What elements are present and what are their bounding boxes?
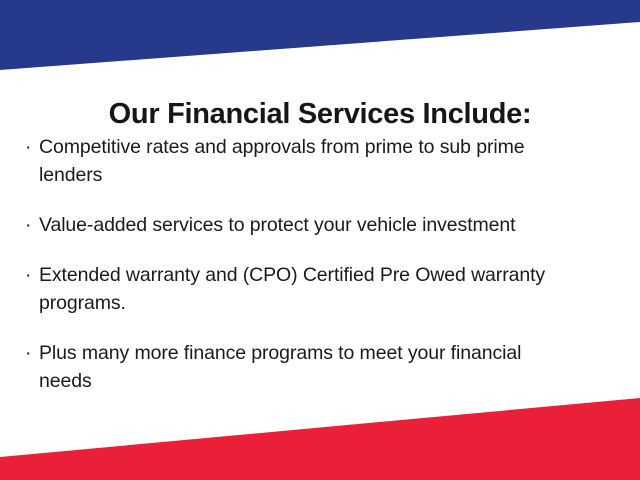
services-bullet-list: · Competitive rates and approvals from p…: [22, 133, 622, 395]
list-item-text: Extended warranty and (CPO) Certified Pr…: [39, 261, 549, 317]
list-item: · Competitive rates and approvals from p…: [22, 133, 622, 189]
list-item: · Extended warranty and (CPO) Certified …: [22, 261, 622, 317]
bullet-dot-icon: ·: [25, 261, 31, 289]
bottom-red-banner: [0, 398, 640, 480]
bullet-dot-icon: ·: [25, 211, 31, 239]
list-item-text: Competitive rates and approvals from pri…: [39, 133, 561, 189]
list-item-text: Plus many more finance programs to meet …: [39, 339, 535, 395]
bullet-dot-icon: ·: [25, 339, 31, 367]
top-blue-banner: [0, 0, 640, 70]
list-item: · Value-added services to protect your v…: [22, 211, 622, 239]
page-title: Our Financial Services Include:: [0, 97, 640, 131]
list-item-text: Value-added services to protect your veh…: [39, 211, 622, 239]
bullet-dot-icon: ·: [25, 133, 31, 161]
list-item: · Plus many more finance programs to mee…: [22, 339, 622, 395]
slide-canvas: Our Financial Services Include: · Compet…: [0, 0, 640, 480]
